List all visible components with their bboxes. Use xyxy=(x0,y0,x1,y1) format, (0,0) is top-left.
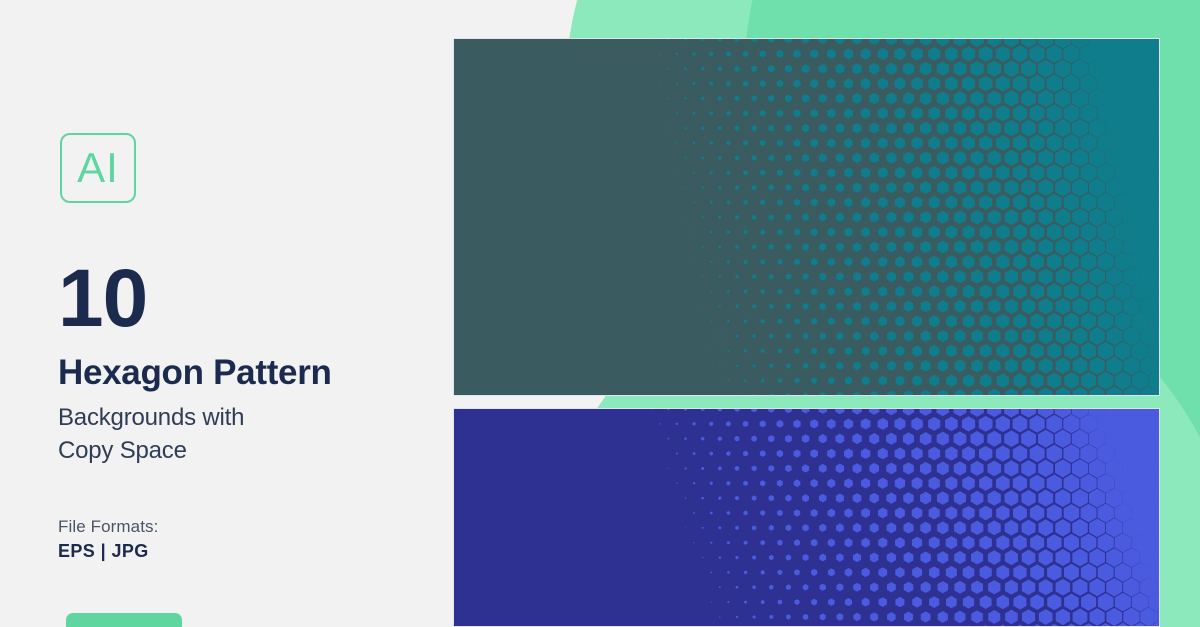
ai-format-badge: AI xyxy=(60,133,136,203)
file-formats-value: EPS | JPG xyxy=(58,541,149,562)
teal-hexagon-preview[interactable] xyxy=(453,38,1160,396)
cta-button[interactable] xyxy=(66,613,182,627)
item-count: 10 xyxy=(58,258,147,340)
file-formats-label: File Formats: xyxy=(58,517,158,537)
blue-hexagon-preview[interactable] xyxy=(453,408,1160,627)
ai-badge-label: AI xyxy=(77,147,119,189)
teal-halftone-hexagon-pattern xyxy=(454,39,1159,396)
blue-halftone-hexagon-pattern xyxy=(454,409,1159,627)
page-subtitle: Backgrounds withCopy Space xyxy=(58,401,244,467)
page-title: Hexagon Pattern xyxy=(58,355,332,392)
preview-canvas: AI 10 Hexagon Pattern Backgrounds withCo… xyxy=(0,0,1200,627)
